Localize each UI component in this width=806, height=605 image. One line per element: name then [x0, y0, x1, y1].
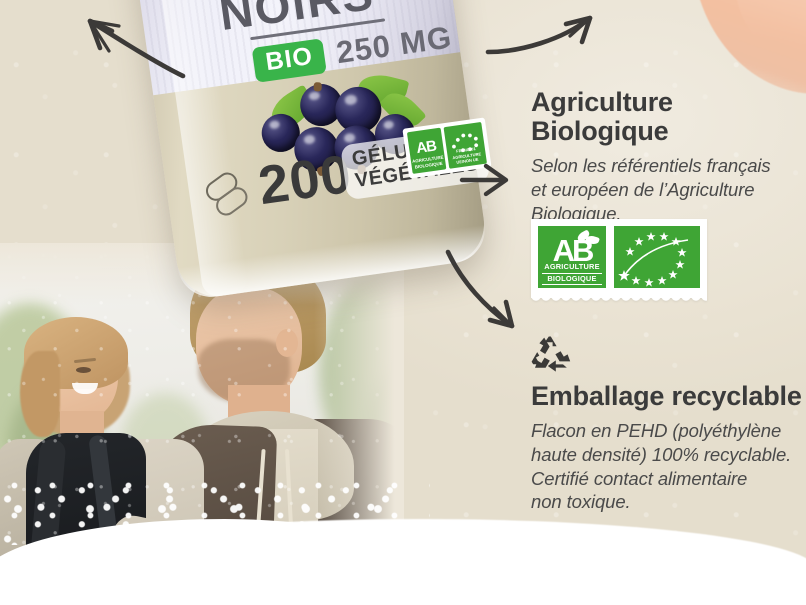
feature-block-packaging: Emballage recyclable Flacon en PEHD (pol… — [531, 382, 806, 514]
arm-highlight — [732, 0, 806, 72]
capsule-count: 200 — [255, 143, 356, 217]
feature-body-line: Flacon en PEHD (polyéthylène — [531, 419, 806, 443]
ab-sub-line-1: AGRICULTURE — [542, 262, 602, 273]
ab-sub-line-2: BIOLOGIQUE — [542, 274, 602, 285]
ab-logo-subtitle: AGRICULTURE BIOLOGIQUE — [542, 262, 602, 285]
certification-logos: AB AGRICULTURE BIOLOGIQUE — [531, 219, 707, 298]
feature-body-line: et européen de l’Agriculture — [531, 178, 806, 202]
feature-title: Emballage recyclable — [531, 382, 806, 411]
eu-stars-leaf — [614, 226, 700, 288]
feature-body-line: non toxique. — [531, 490, 806, 514]
berry-stem — [313, 82, 322, 92]
mini-ab-logo: AB AGRICULTURE BIOLOGIQUE — [407, 128, 447, 174]
feature-body-line: Certifié contact alimentaire — [531, 467, 806, 491]
recycle-icon — [529, 334, 573, 376]
arrow-down-right-icon — [428, 246, 538, 346]
eu-organic-leaf-logo — [614, 226, 700, 288]
arrow-right-icon — [460, 162, 520, 202]
feature-body: Flacon en PEHD (polyéthylène haute densi… — [531, 419, 806, 514]
arrow-up-left-icon — [62, 4, 187, 84]
ab-logo: AB AGRICULTURE BIOLOGIQUE — [538, 226, 606, 288]
promo-banner: NOIRS BIO 250 MG 200 GÉLULES VÉG — [0, 0, 806, 605]
feature-block-organic: Agriculture Biologique Selon les référen… — [531, 88, 806, 225]
feature-body-line: haute densité) 100% recyclable. — [531, 443, 806, 467]
feature-body: Selon les référentiels français et europ… — [531, 154, 806, 225]
capsule-icon — [203, 173, 254, 219]
feature-body-line: Selon les référentiels français — [531, 154, 806, 178]
feature-title: Agriculture Biologique — [531, 88, 806, 146]
arrow-up-right-icon — [484, 4, 609, 84]
